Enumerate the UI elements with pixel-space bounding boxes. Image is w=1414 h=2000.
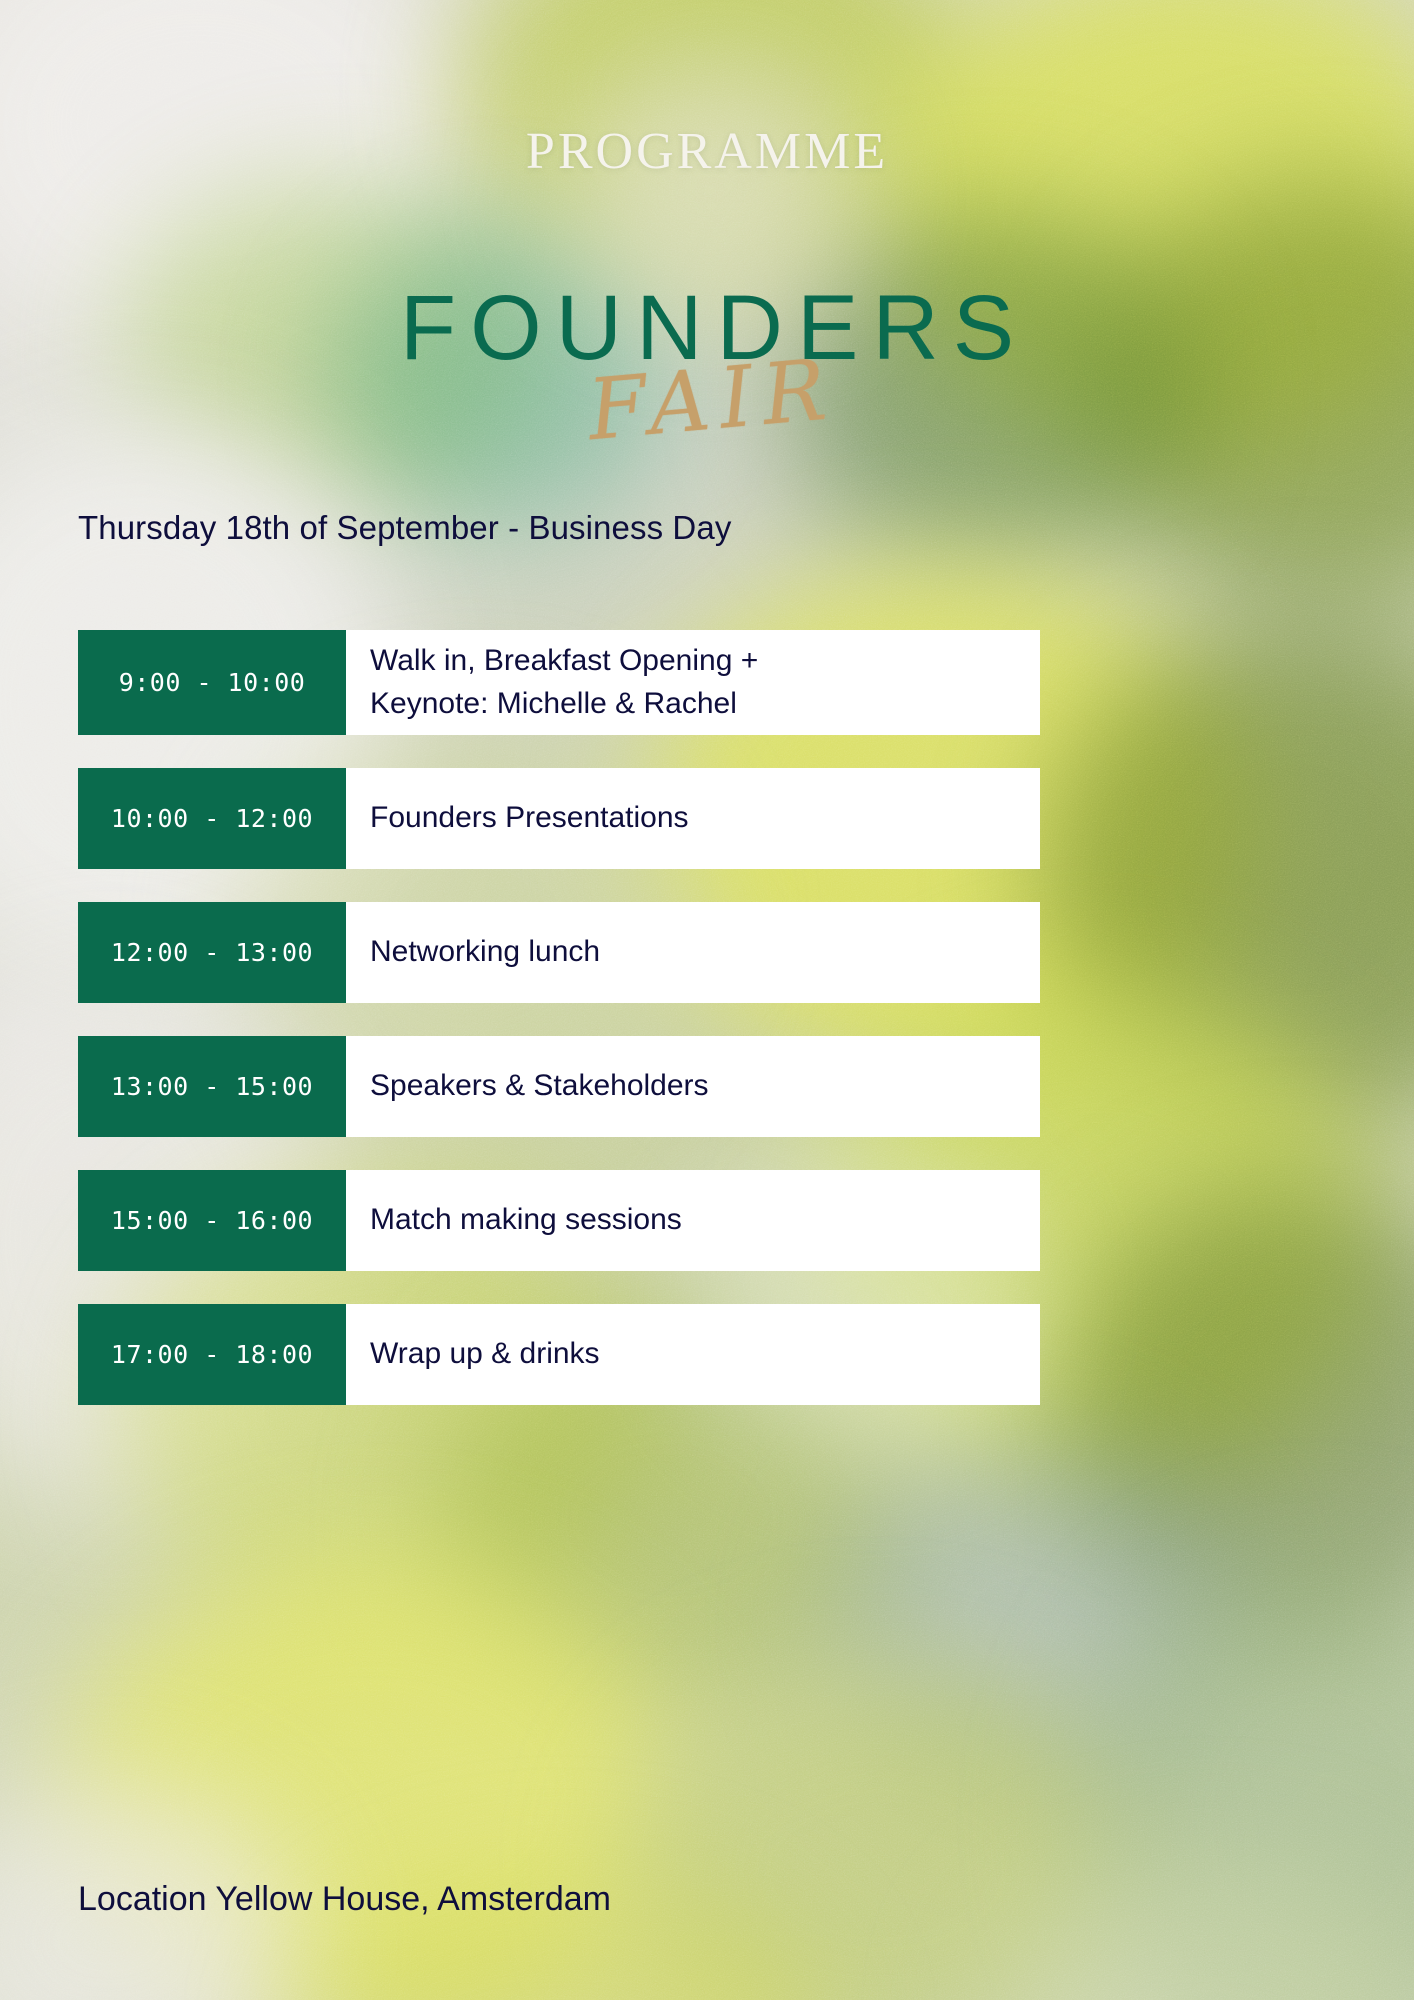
page-kicker: PROGRAMME <box>0 122 1414 181</box>
schedule-title-line: Keynote: Michelle & Rachel <box>370 683 758 726</box>
schedule-row: 10:00 - 12:00 Founders Presentations <box>78 768 1040 869</box>
location-footer: Location Yellow House, Amsterdam <box>78 1880 611 1919</box>
schedule-title-line: Walk in, Breakfast Opening + <box>370 640 758 683</box>
schedule-title-block: Networking lunch <box>346 902 1040 1003</box>
schedule-title-line: Founders Presentations <box>370 797 689 840</box>
schedule-time-block: 10:00 - 12:00 <box>78 768 346 869</box>
schedule-time-block: 17:00 - 18:00 <box>78 1304 346 1405</box>
schedule-row: 13:00 - 15:00 Speakers & Stakeholders <box>78 1036 1040 1137</box>
schedule-time-block: 15:00 - 16:00 <box>78 1170 346 1271</box>
schedule-title-block: Wrap up & drinks <box>346 1304 1040 1405</box>
schedule-row: 17:00 - 18:00 Wrap up & drinks <box>78 1304 1040 1405</box>
schedule-title-block: Match making sessions <box>346 1170 1040 1271</box>
event-logo: FOUNDERS FAIR <box>0 282 1414 472</box>
schedule-time-block: 12:00 - 13:00 <box>78 902 346 1003</box>
schedule-title-block: Walk in, Breakfast Opening + Keynote: Mi… <box>346 630 1040 735</box>
schedule-title-line: Speakers & Stakeholders <box>370 1065 709 1108</box>
schedule-title-line: Wrap up & drinks <box>370 1333 600 1376</box>
schedule-title-block: Founders Presentations <box>346 768 1040 869</box>
schedule-time-block: 13:00 - 15:00 <box>78 1036 346 1137</box>
schedule-title-line: Networking lunch <box>370 931 600 974</box>
date-line: Thursday 18th of September - Business Da… <box>78 509 731 547</box>
programme-poster: PROGRAMME FOUNDERS FAIR Thursday 18th of… <box>0 0 1414 2000</box>
schedule-row: 15:00 - 16:00 Match making sessions <box>78 1170 1040 1271</box>
schedule-row: 12:00 - 13:00 Networking lunch <box>78 902 1040 1003</box>
schedule-time-block: 9:00 - 10:00 <box>78 630 346 735</box>
schedule-row: 9:00 - 10:00 Walk in, Breakfast Opening … <box>78 630 1040 735</box>
schedule-list: 9:00 - 10:00 Walk in, Breakfast Opening … <box>78 630 1040 1438</box>
schedule-title-line: Match making sessions <box>370 1199 682 1242</box>
schedule-title-block: Speakers & Stakeholders <box>346 1036 1040 1137</box>
